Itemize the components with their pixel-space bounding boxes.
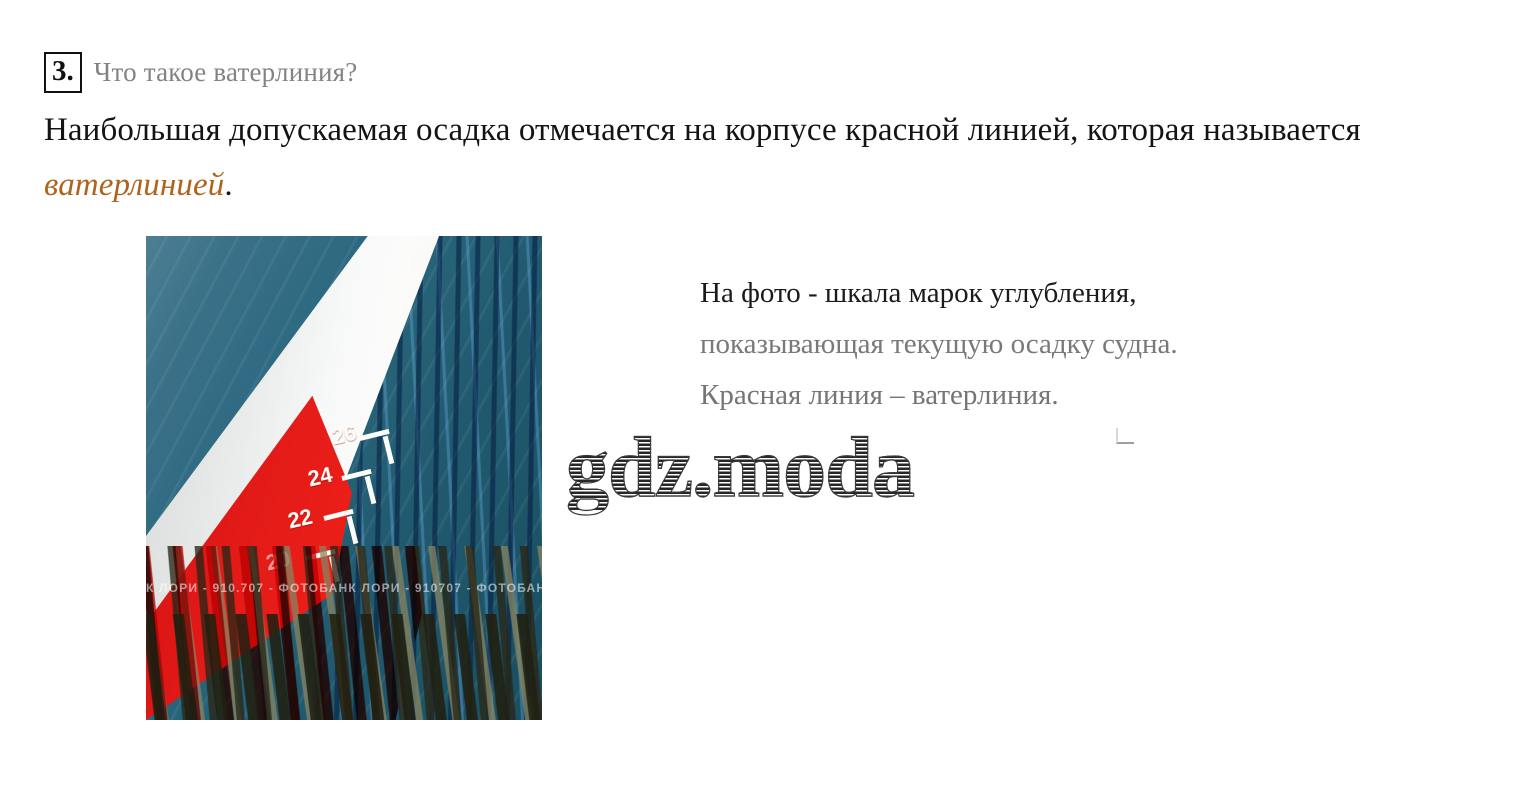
draft-number-22: 22 (286, 506, 315, 533)
ship-bow-photo: 26 24 22 20 К ЛОРИ - 910.707 - ФОТОБАНК … (146, 236, 542, 720)
draft-number-26: 26 (330, 422, 359, 449)
caption-line-1: На фото - шкала марок углубления, (700, 268, 1380, 319)
highlighted-term: ватерлинией (44, 167, 224, 203)
draft-tick-riser (347, 516, 359, 544)
stock-photo-watermark: К ЛОРИ - 910.707 - ФОТОБАНК ЛОРИ - 91070… (146, 581, 542, 595)
caption-line-2: показывающая текущую осадку судна. (700, 319, 1380, 370)
caption-line-3: Красная линия – ватерлиния. (700, 370, 1380, 421)
draft-tick-riser (365, 476, 377, 504)
answer-paragraph: Наибольшая допускаемая осадка отмечается… (44, 103, 1424, 213)
question-header: 3. Что такое ватерлиния? (44, 52, 357, 93)
task-number-badge: 3. (44, 52, 82, 93)
question-title: Что такое ватерлиния? (94, 59, 358, 86)
draft-number-24: 24 (306, 464, 335, 491)
draft-tick-riser (383, 436, 395, 464)
photo-caption: На фото - шкала марок углубления, показы… (700, 268, 1380, 421)
answer-text-before: Наибольшая допускаемая осадка отмечается… (44, 112, 1361, 148)
watermark-artifact (1116, 428, 1134, 444)
answer-text-after: . (224, 167, 232, 203)
site-watermark: gdz.moda (566, 424, 914, 510)
dark-water-reflection (146, 614, 542, 720)
